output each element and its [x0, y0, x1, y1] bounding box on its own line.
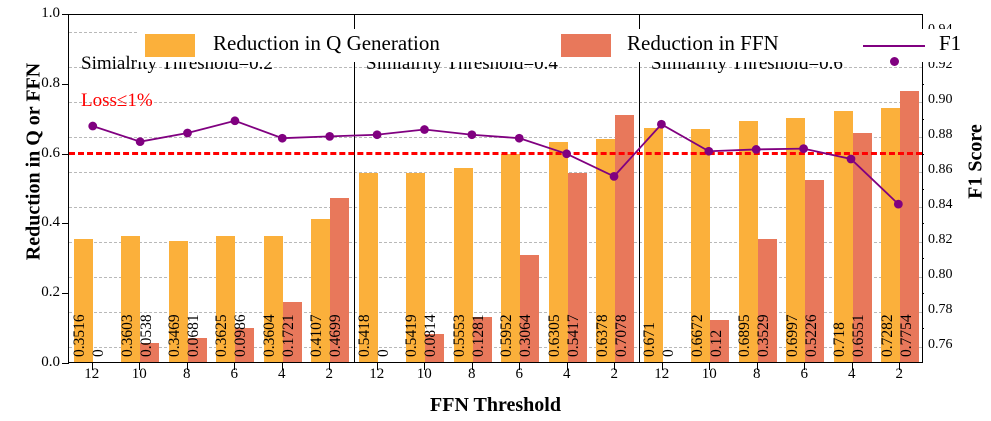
tick-mark — [804, 363, 805, 370]
y-tick-left: 0.4 — [24, 214, 60, 231]
x-axis-title: FFN Threshold — [0, 394, 991, 417]
bar-value-label: 0.5419 — [403, 314, 421, 357]
legend-label-ffn: Reduction in FFN — [627, 31, 779, 56]
bar-value-label: 0.5418 — [356, 314, 374, 357]
bar-value-label: 0.671 — [641, 322, 659, 357]
bar-value-label: 0 — [90, 349, 108, 357]
y-tick-left: 0.2 — [24, 284, 60, 301]
y-tick-right: 0.76 — [928, 337, 970, 353]
y-axis-left-ticks: 1.00.80.60.40.20.0 — [22, 0, 60, 421]
y-tick-right: 0.90 — [928, 92, 970, 108]
tick-mark — [757, 363, 758, 370]
f1-data-point — [515, 134, 524, 143]
tick-mark — [187, 363, 188, 370]
tick-mark — [234, 363, 235, 370]
bar-value-label: 0.3603 — [119, 314, 137, 357]
y-tick-right: 0.80 — [928, 267, 970, 283]
bar-value-label: 0.3064 — [517, 314, 535, 357]
bar-value-label: 0.7282 — [879, 314, 897, 357]
gridline — [69, 102, 922, 103]
bar-value-label: 0.3469 — [166, 314, 184, 357]
legend-label-f1: F1 — [939, 31, 961, 56]
bar-value-label: 0.4699 — [327, 314, 345, 357]
legend-label-q-generation: Reduction in Q Generation — [213, 31, 440, 56]
tick-mark — [282, 363, 283, 370]
tick-mark — [709, 363, 710, 370]
bar-value-label: 0.1281 — [470, 314, 488, 357]
y-tick-left: 0.0 — [24, 354, 60, 371]
tick-mark — [852, 363, 853, 370]
f1-data-point — [420, 125, 429, 134]
bar-value-label: 0.0814 — [422, 314, 440, 357]
y-tick-left: 1.0 — [24, 5, 60, 22]
tick-mark — [377, 363, 378, 370]
legend-marker-f1 — [890, 57, 899, 66]
bar-value-label: 0.6378 — [594, 314, 612, 357]
bar-value-label: 0.7078 — [613, 314, 631, 357]
panel-separator — [639, 15, 640, 362]
tick-mark — [662, 363, 663, 370]
tick-mark — [92, 363, 93, 370]
f1-data-point — [183, 129, 192, 138]
panel-separator — [354, 15, 355, 362]
y-tick-right: 0.86 — [928, 162, 970, 178]
bar-value-label: 0.0538 — [138, 314, 156, 357]
bar-value-label: 0.12 — [708, 330, 726, 357]
bar-value-label: 0.4107 — [308, 314, 326, 357]
f1-data-point — [88, 122, 97, 131]
bar-value-label: 0.5226 — [803, 314, 821, 357]
y-tick-left: 0.8 — [24, 75, 60, 92]
f1-data-point — [231, 116, 240, 125]
tick-mark — [567, 363, 568, 370]
bar-value-label: 0 — [375, 349, 393, 357]
bar-value-label: 0.0986 — [232, 314, 250, 357]
bar-value-label: 0.6997 — [784, 314, 802, 357]
tick-mark — [472, 363, 473, 370]
tick-mark — [329, 363, 330, 370]
tick-mark — [519, 363, 520, 370]
legend: Reduction in Q Generation Reduction in F… — [137, 29, 991, 62]
bar-value-label: 0.7754 — [898, 314, 916, 357]
legend-swatch-ffn — [561, 34, 611, 57]
bar-value-label: 0.1721 — [280, 314, 298, 357]
bar-value-label: 0.5417 — [565, 314, 583, 357]
loss-annotation: Loss≤1% — [81, 90, 153, 112]
chart-container: Reduction in Q or FFN F1 Score FFN Thres… — [0, 0, 991, 421]
tick-mark — [139, 363, 140, 370]
plot-area: 0.351600.36030.05380.34690.06810.36250.0… — [68, 14, 923, 363]
y-tick-right: 0.84 — [928, 197, 970, 213]
bar-value-label: 0.6895 — [736, 314, 754, 357]
bar-value-label: 0.6551 — [850, 314, 868, 357]
bar-value-label: 0.3516 — [71, 314, 89, 357]
tick-mark — [424, 363, 425, 370]
y-tick-left: 0.6 — [24, 145, 60, 162]
y-tick-right: 0.78 — [928, 302, 970, 318]
f1-data-point — [278, 134, 287, 143]
y-tick-right: 0.88 — [928, 127, 970, 143]
y-axis-right-ticks: 0.940.920.900.880.860.840.820.800.780.76 — [928, 0, 974, 421]
f1-data-point — [136, 137, 145, 146]
bar-value-label: 0.718 — [831, 322, 849, 357]
bar-value-label: 0.6305 — [546, 314, 564, 357]
tick-mark — [614, 363, 615, 370]
legend-line-f1 — [863, 45, 925, 47]
bar-value-label: 0.3604 — [261, 314, 279, 357]
y-tick-right: 0.82 — [928, 232, 970, 248]
tick-mark — [62, 363, 69, 364]
bar-value-label: 0.3529 — [755, 314, 773, 357]
legend-swatch-q-generation — [145, 34, 195, 57]
loss-threshold-line — [69, 152, 922, 155]
tick-mark — [899, 363, 900, 370]
bar-value-label: 0 — [660, 349, 678, 357]
bar-value-label: 0.5553 — [451, 314, 469, 357]
bar-value-label: 0.3625 — [213, 314, 231, 357]
bar-value-label: 0.0681 — [185, 314, 203, 357]
bar-value-label: 0.5952 — [498, 314, 516, 357]
bar-value-label: 0.6672 — [689, 314, 707, 357]
